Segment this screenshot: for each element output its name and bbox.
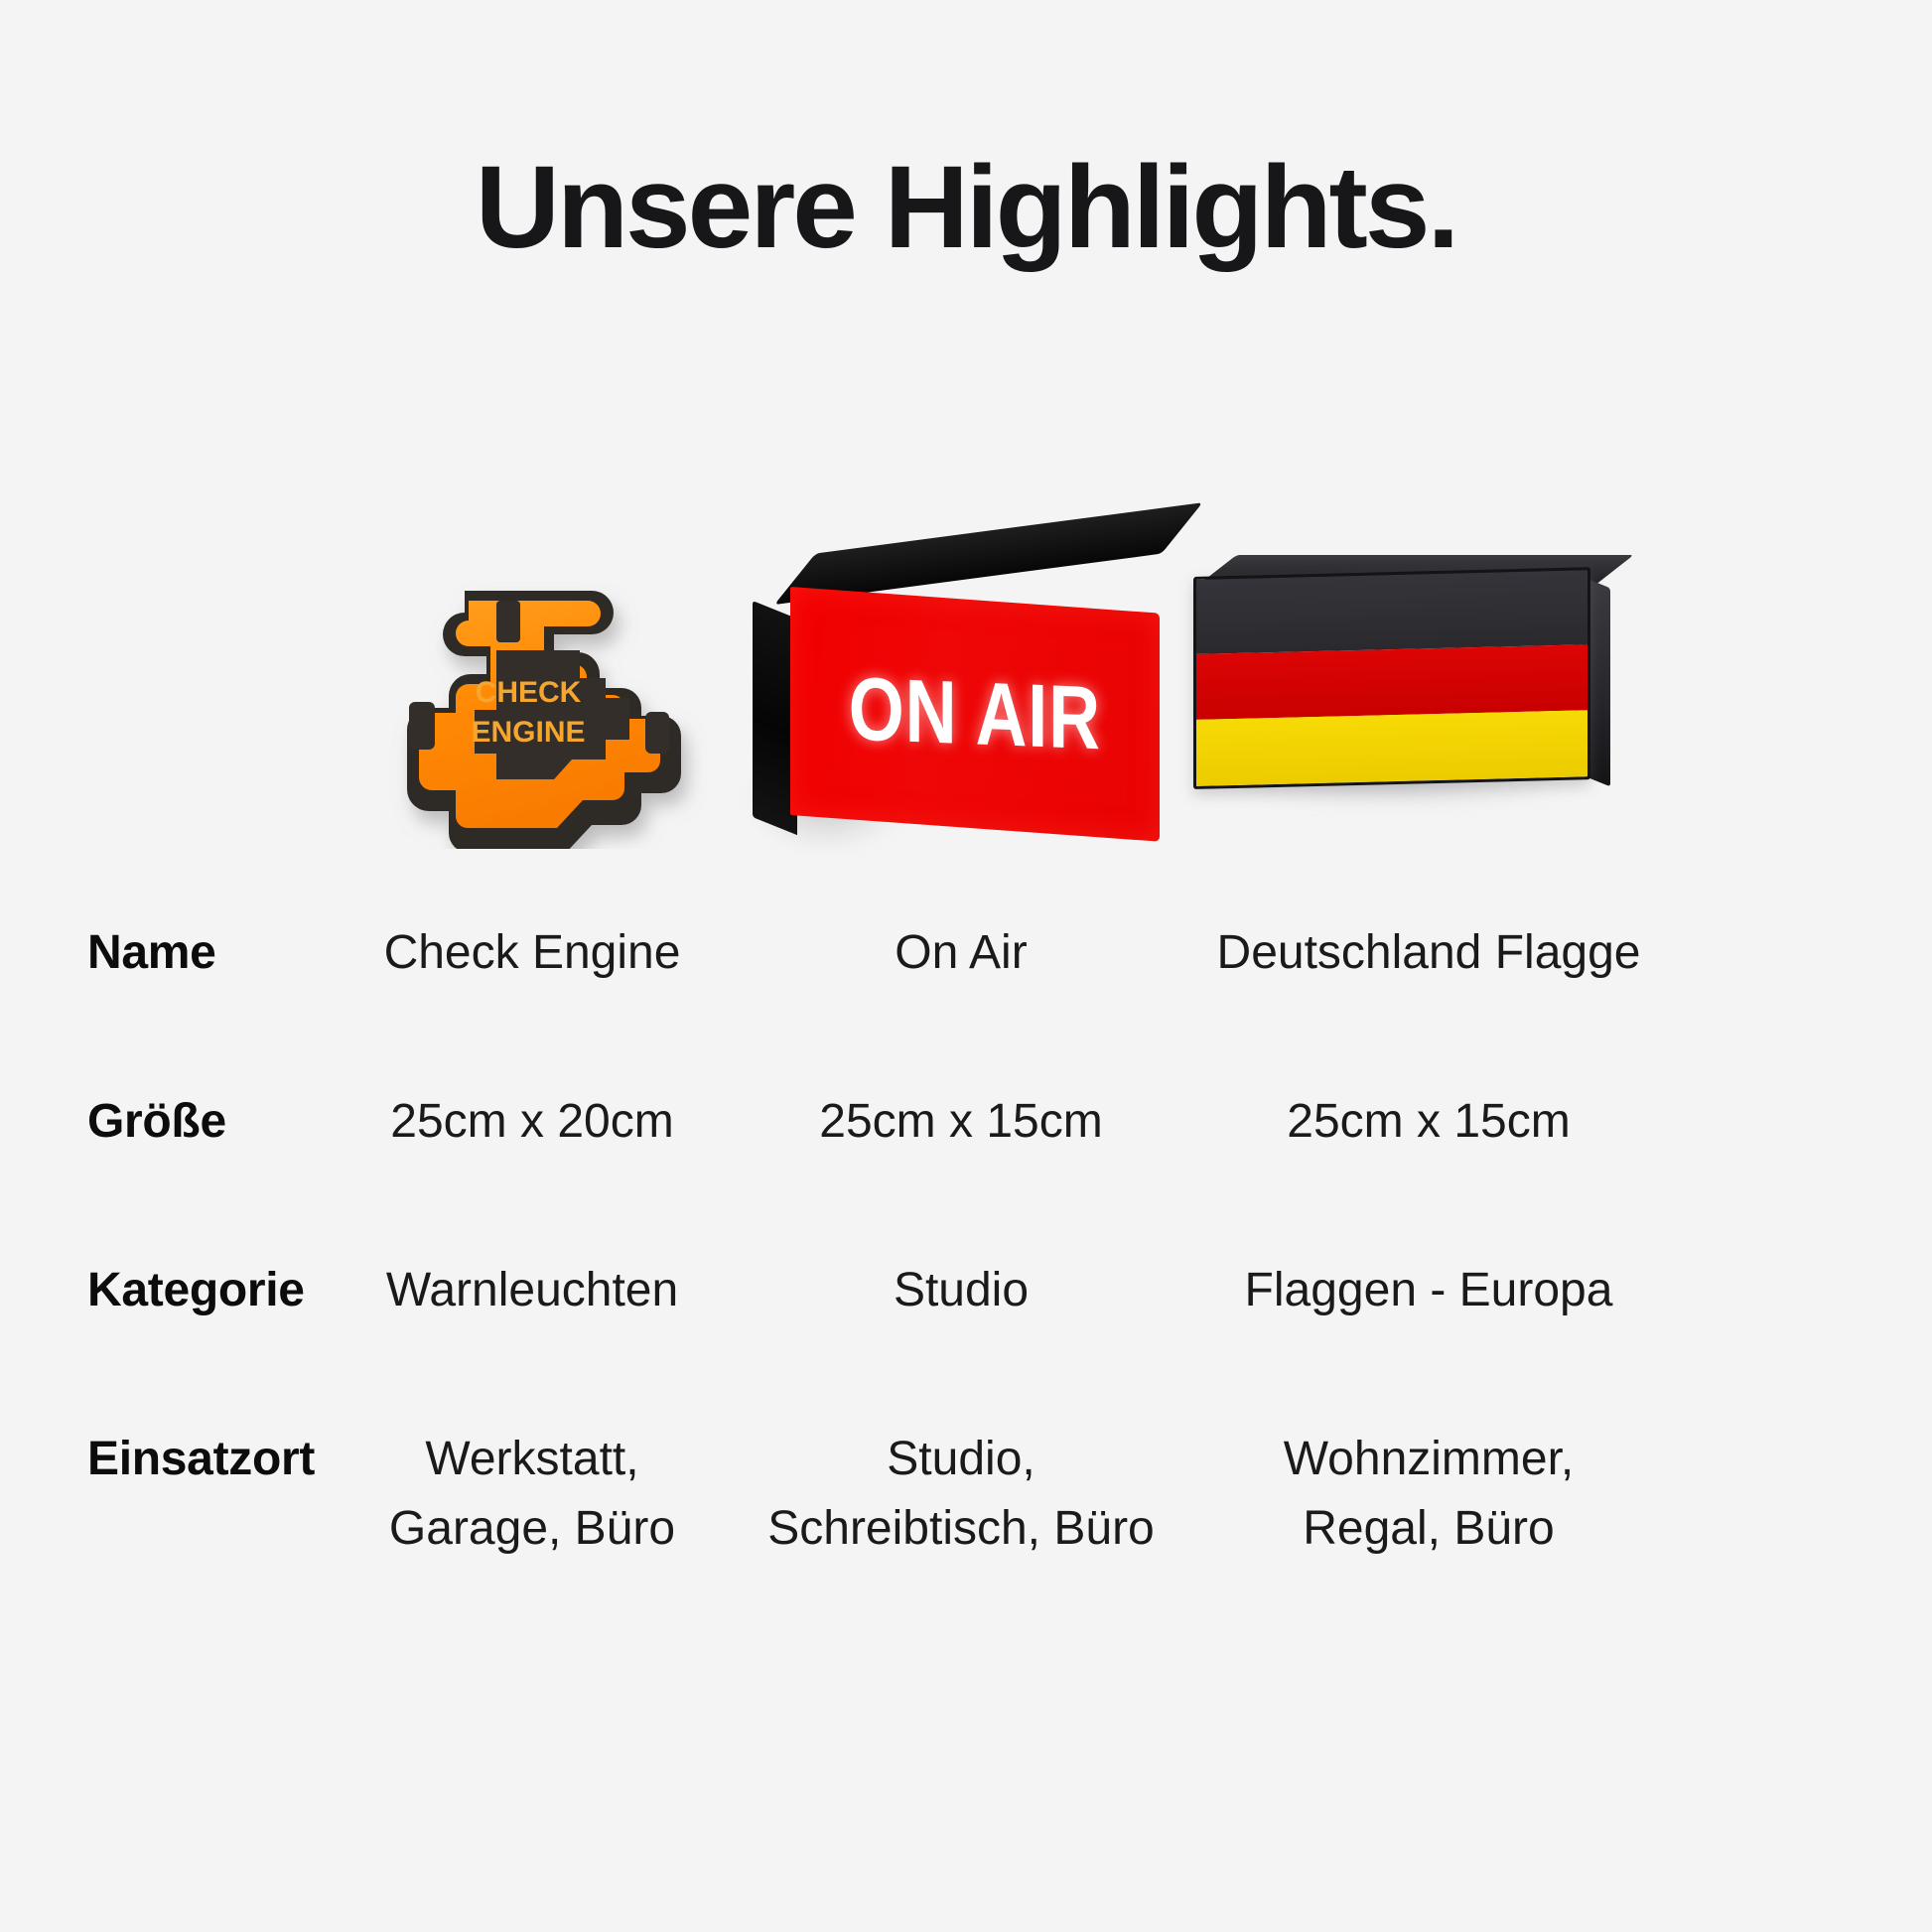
table-row: Kategorie Warnleuchten Studio Flaggen - … (0, 1256, 1932, 1425)
flag-band-gold (1196, 711, 1587, 786)
cell-category-flagge: Flaggen - Europa (1195, 1256, 1662, 1325)
cell-size-on-air: 25cm x 15cm (727, 1087, 1195, 1157)
check-engine-text-line1: CHECK (476, 676, 582, 709)
cell-size-check-engine: 25cm x 20cm (338, 1087, 727, 1157)
check-engine-lamp-icon: CHECK ENGINE (347, 551, 725, 854)
cell-location-flagge: Wohnzimmer,Regal, Büro (1195, 1425, 1662, 1563)
cell-location-check-engine: Werkstatt,Garage, Büro (338, 1425, 727, 1563)
product-image-on-air[interactable]: ON AIR (735, 551, 1181, 879)
flag-band-red (1196, 644, 1587, 720)
spec-table: Name Check Engine On Air Deutschland Fla… (0, 918, 1932, 1643)
table-row: Einsatzort Werkstatt,Garage, Büro Studio… (0, 1425, 1932, 1643)
cell-category-check-engine: Warnleuchten (338, 1256, 727, 1325)
product-image-row: CHECK ENGINE ON AIR (0, 551, 1932, 879)
page-title: Unsere Highlights. (0, 149, 1932, 266)
product-image-check-engine[interactable]: CHECK ENGINE (338, 551, 735, 879)
row-label-name: Name (0, 918, 338, 988)
table-row: Name Check Engine On Air Deutschland Fla… (0, 918, 1932, 1087)
cell-name-flagge: Deutschland Flagge (1195, 918, 1662, 988)
check-engine-text-line2: ENGINE (471, 716, 585, 749)
row-label-groesse: Größe (0, 1087, 338, 1157)
on-air-front-face: ON AIR (790, 587, 1160, 842)
cell-size-flagge: 25cm x 15cm (1195, 1087, 1662, 1157)
germany-flag-lightbox (1181, 563, 1618, 861)
on-air-lightbox: ON AIR (745, 565, 1162, 863)
table-row: Größe 25cm x 20cm 25cm x 15cm 25cm x 15c… (0, 1087, 1932, 1256)
row-label-einsatzort: Einsatzort (0, 1425, 338, 1494)
product-image-deutschland-flagge[interactable] (1181, 551, 1638, 879)
cell-name-check-engine: Check Engine (338, 918, 727, 988)
flag-front-face (1193, 567, 1590, 789)
row-label-kategorie: Kategorie (0, 1256, 338, 1325)
flag-band-black (1196, 570, 1587, 654)
cell-name-on-air: On Air (727, 918, 1195, 988)
on-air-text: ON AIR (849, 658, 1101, 770)
cell-location-on-air: Studio,Schreibtisch, Büro (727, 1425, 1195, 1563)
cell-category-on-air: Studio (727, 1256, 1195, 1325)
